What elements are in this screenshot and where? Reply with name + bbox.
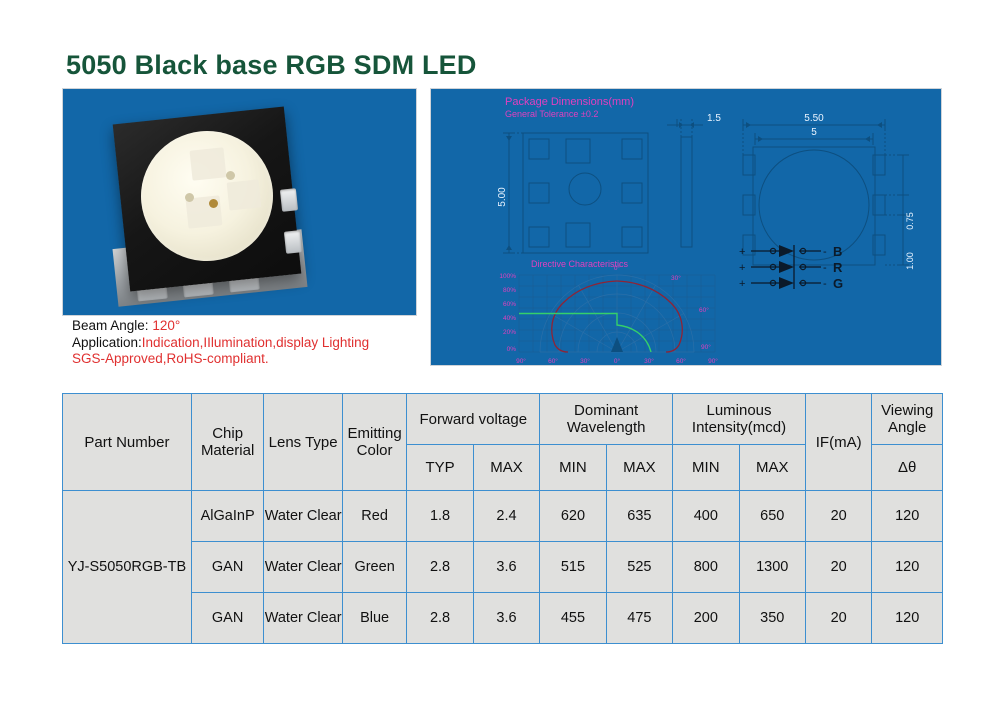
polar-plot: 100% 80% 60% 40% 20% 0% 90° 60° 30° 0° 3… bbox=[499, 264, 718, 365]
cell-emitting-color: Blue bbox=[342, 593, 406, 644]
polarity-diagram: + + + - - - B R G bbox=[739, 244, 843, 291]
cell-lens-type: Water Clear bbox=[264, 491, 343, 542]
cell-chip-material: GAN bbox=[191, 542, 263, 593]
cell-viewing-angle: 120 bbox=[872, 593, 943, 644]
col-header-vf-max: MAX bbox=[473, 445, 539, 491]
col-header-dominant-wavelength: Dominant Wavelength bbox=[540, 394, 673, 445]
polar-xtick: 90° bbox=[708, 357, 718, 365]
col-header-delta-theta: Δθ bbox=[872, 445, 943, 491]
cell-li-max: 350 bbox=[739, 593, 805, 644]
polar-xtick: 30° bbox=[644, 357, 654, 365]
polarity-channel-g: G bbox=[833, 276, 843, 291]
col-header-lens-type: Lens Type bbox=[264, 394, 343, 491]
cell-li-max: 650 bbox=[739, 491, 805, 542]
col-header-viewing-angle: Viewing Angle bbox=[872, 394, 943, 445]
polarity-channel-b: B bbox=[833, 244, 842, 259]
polar-angle-label: 60° bbox=[699, 306, 709, 314]
table-row: GANWater ClearGreen2.83.6515525800130020… bbox=[63, 542, 943, 593]
dim-side-thickness: 1.5 bbox=[707, 113, 721, 124]
cell-emitting-color: Green bbox=[342, 542, 406, 593]
led-bond-wire-pad bbox=[226, 171, 235, 180]
cell-if-ma: 20 bbox=[805, 542, 871, 593]
cell-lens-type: Water Clear bbox=[264, 542, 343, 593]
cell-if-ma: 20 bbox=[805, 491, 871, 542]
beam-angle-label: Beam Angle: bbox=[72, 318, 152, 333]
table-row: GANWater ClearBlue2.83.64554752003502012… bbox=[63, 593, 943, 644]
polar-ytick: 100% bbox=[499, 273, 516, 280]
cell-vf-max: 3.6 bbox=[473, 542, 539, 593]
dim-pad-offset: 1.00 bbox=[905, 252, 915, 270]
col-header-part-number: Part Number bbox=[63, 394, 192, 491]
polarity-minus: - bbox=[823, 278, 827, 290]
polar-xtick: 60° bbox=[676, 357, 686, 365]
cell-wl-max: 635 bbox=[606, 491, 672, 542]
cell-wl-max: 525 bbox=[606, 542, 672, 593]
cell-wl-max: 475 bbox=[606, 593, 672, 644]
beam-angle-value: 120° bbox=[152, 318, 180, 333]
cell-if-ma: 20 bbox=[805, 593, 871, 644]
dim-bottom-inner-width: 5 bbox=[811, 127, 817, 138]
col-header-chip-material: Chip Material bbox=[191, 394, 263, 491]
led-product-photo bbox=[63, 89, 416, 315]
polar-angle-label: 0° bbox=[614, 264, 621, 272]
polar-ytick: 40% bbox=[503, 315, 516, 322]
polar-ytick: 60% bbox=[503, 301, 516, 308]
specification-table: Part Number Chip Material Lens Type Emit… bbox=[62, 393, 943, 644]
cell-lens-type: Water Clear bbox=[264, 593, 343, 644]
polar-xtick: 0° bbox=[614, 357, 621, 365]
cell-li-max: 1300 bbox=[739, 542, 805, 593]
polar-xtick: 90° bbox=[516, 357, 526, 365]
cell-vf-typ: 2.8 bbox=[407, 593, 473, 644]
photo-caption: Beam Angle: 120° Application:Indication,… bbox=[72, 318, 422, 368]
cell-chip-material: GAN bbox=[191, 593, 263, 644]
dim-bottom-outer-width: 5.50 bbox=[804, 113, 824, 124]
col-header-wl-min: MIN bbox=[540, 445, 606, 491]
cell-vf-max: 2.4 bbox=[473, 491, 539, 542]
cell-part-number: YJ-S5050RGB-TB bbox=[63, 491, 192, 644]
led-gold-bond bbox=[209, 199, 218, 208]
led-side-pad bbox=[280, 188, 298, 212]
led-die bbox=[190, 147, 227, 180]
col-header-forward-voltage: Forward voltage bbox=[407, 394, 540, 445]
package-dimension-drawing: Package Dimensions(mm) General Tolerance… bbox=[431, 89, 941, 365]
cell-viewing-angle: 120 bbox=[872, 542, 943, 593]
application-label: Application: bbox=[72, 335, 142, 350]
cell-vf-typ: 1.8 bbox=[407, 491, 473, 542]
col-header-emitting-color: Emitting Color bbox=[342, 394, 406, 491]
cell-wl-min: 455 bbox=[540, 593, 606, 644]
cell-emitting-color: Red bbox=[342, 491, 406, 542]
product-photo-panel bbox=[62, 88, 417, 316]
cell-vf-typ: 2.8 bbox=[407, 542, 473, 593]
polarity-plus: + bbox=[739, 246, 745, 258]
polar-xtick: 60° bbox=[548, 357, 558, 365]
dim-top-view-height: 5.00 bbox=[497, 187, 508, 207]
col-header-luminous-intensity: Luminous Intensity(mcd) bbox=[673, 394, 806, 445]
polarity-channel-r: R bbox=[833, 260, 843, 275]
led-side-pad bbox=[284, 230, 302, 254]
certifications-line: SGS-Approved,RoHS-compliant. bbox=[72, 351, 422, 368]
application-line: Application:Indication,IIlumination,disp… bbox=[72, 335, 422, 352]
cell-wl-min: 515 bbox=[540, 542, 606, 593]
cell-chip-material: AlGaInP bbox=[191, 491, 263, 542]
cell-li-min: 400 bbox=[673, 491, 739, 542]
col-header-wl-max: MAX bbox=[606, 445, 672, 491]
table-row: YJ-S5050RGB-TBAlGaInPWater ClearRed1.82.… bbox=[63, 491, 943, 542]
drawing-subheading: General Tolerance ±0.2 bbox=[505, 109, 598, 119]
polarity-plus: + bbox=[739, 278, 745, 290]
led-bond-wire-pad bbox=[185, 193, 194, 202]
col-header-if-ma: IF(mA) bbox=[805, 394, 871, 491]
package-drawing-panel: Package Dimensions(mm) General Tolerance… bbox=[430, 88, 942, 366]
led-die bbox=[227, 179, 262, 210]
polarity-plus: + bbox=[739, 262, 745, 274]
polar-angle-label: 90° bbox=[701, 343, 711, 351]
cell-li-min: 200 bbox=[673, 593, 739, 644]
polar-ytick: 0% bbox=[507, 346, 517, 353]
application-value: Indication,IIlumination,display Lighting bbox=[142, 335, 369, 350]
polar-ytick: 80% bbox=[503, 287, 516, 294]
drawing-heading: Package Dimensions(mm) bbox=[505, 96, 634, 108]
page-title: 5050 Black base RGB SDM LED bbox=[66, 50, 477, 81]
table-header-row-1: Part Number Chip Material Lens Type Emit… bbox=[63, 394, 943, 445]
col-header-vf-typ: TYP bbox=[407, 445, 473, 491]
polarity-minus: - bbox=[823, 246, 827, 258]
polar-ytick: 20% bbox=[503, 329, 516, 336]
cell-vf-max: 3.6 bbox=[473, 593, 539, 644]
col-header-li-max: MAX bbox=[739, 445, 805, 491]
polar-xtick: 30° bbox=[580, 357, 590, 365]
dim-pad-pitch: 0.75 bbox=[905, 212, 915, 230]
polar-angle-label: 30° bbox=[671, 274, 681, 282]
beam-angle-line: Beam Angle: 120° bbox=[72, 318, 422, 335]
col-header-li-min: MIN bbox=[673, 445, 739, 491]
polarity-minus: - bbox=[823, 262, 827, 274]
cell-viewing-angle: 120 bbox=[872, 491, 943, 542]
cell-li-min: 800 bbox=[673, 542, 739, 593]
cell-wl-min: 620 bbox=[540, 491, 606, 542]
